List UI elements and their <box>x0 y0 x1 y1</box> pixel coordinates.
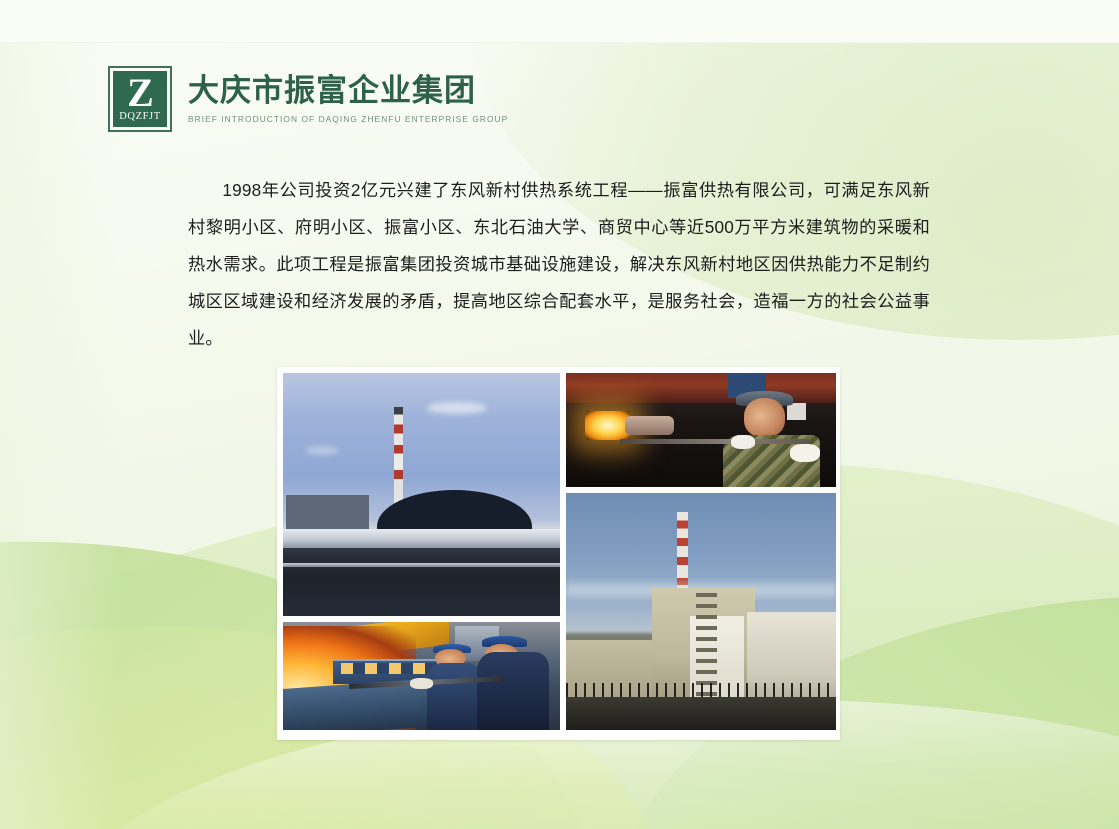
body-copy: 1998年公司投资2亿元兴建了东风新村供热系统工程——振富供热有限公司，可满足东… <box>188 172 930 357</box>
page-subtitle: BRIEF INTRODUCTION OF DAQING ZHENFU ENTE… <box>188 113 508 125</box>
boiler-house-image <box>566 493 836 730</box>
photo-control-room-workers <box>283 622 560 730</box>
photo-furnace-operator <box>566 373 836 487</box>
slide-page: Z DQZFJT 大庆市振富企业集团 BRIEF INTRODUCTION OF… <box>0 0 1119 829</box>
window-grid-shape <box>696 593 718 697</box>
worker-glove-shape <box>410 678 432 689</box>
cloud-shape <box>427 402 487 414</box>
company-logo-icon: Z DQZFJT <box>108 66 172 132</box>
worker-body-shape <box>477 652 549 730</box>
worker-body-shape <box>427 663 482 730</box>
poker-rod-shape <box>620 439 809 444</box>
photo-collage <box>277 367 840 740</box>
furnace-operator-image <box>566 373 836 487</box>
furnace-pipe-shape <box>625 416 674 434</box>
page-header: Z DQZFJT 大庆市振富企业集团 BRIEF INTRODUCTION OF… <box>108 66 508 132</box>
page-title: 大庆市振富企业集团 <box>188 74 508 108</box>
furnace-upper-shape <box>566 373 836 403</box>
furnace-glow-shape <box>585 411 631 441</box>
worker-face-shape <box>744 398 785 437</box>
logo-letter-z: Z <box>127 74 153 112</box>
logo-inner-block: Z DQZFJT <box>113 71 167 127</box>
furnace-white-marker-shape <box>787 403 806 420</box>
ground-shape <box>566 697 836 730</box>
photo-plant-exterior-wide <box>283 373 560 616</box>
body-paragraph: 1998年公司投资2亿元兴建了东风新村供热系统工程——振富供热有限公司，可满足东… <box>188 172 930 357</box>
brand-text-block: 大庆市振富企业集团 BRIEF INTRODUCTION OF DAQING Z… <box>188 66 508 125</box>
plant-exterior-image <box>283 373 560 616</box>
background-top-band <box>0 0 1119 43</box>
control-room-workers-image <box>283 622 560 730</box>
logo-abbreviation: DQZFJT <box>119 111 161 123</box>
background-left-vignette <box>0 0 120 829</box>
panel-indicator-lights-shape <box>341 663 441 674</box>
cloud-shape <box>305 446 339 455</box>
collage-right-column <box>566 373 836 730</box>
plant-row-shape <box>283 529 560 548</box>
foreground-field-shape <box>283 553 560 616</box>
rail-line-shape <box>283 563 560 567</box>
photo-boiler-house-chimney <box>566 493 836 730</box>
building-shape <box>286 495 369 529</box>
worker-glove-shape <box>790 444 820 462</box>
worker-glove-shape <box>731 435 755 450</box>
